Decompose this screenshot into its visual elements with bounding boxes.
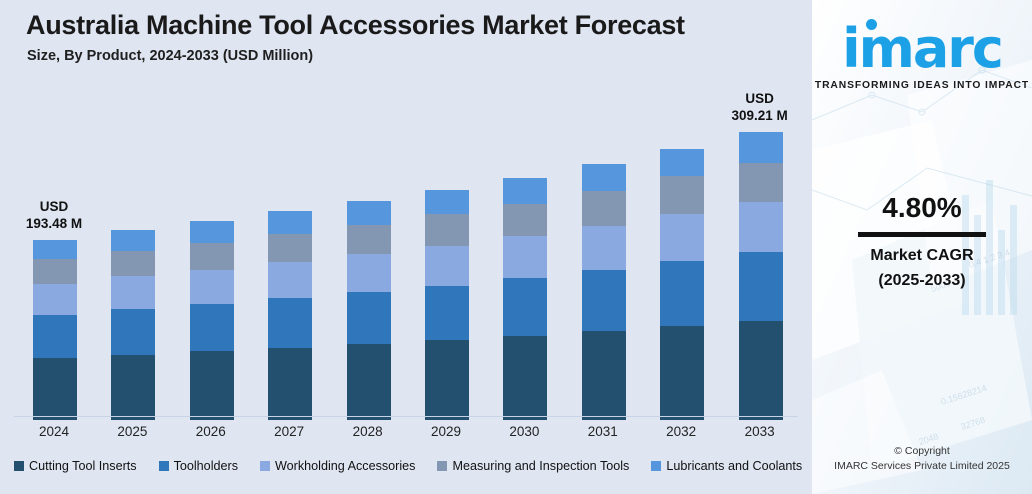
x-axis-line (14, 416, 798, 417)
stacked-bar-2029[interactable] (425, 190, 469, 420)
bar-segment-2031-measuring-and-inspection-tools (582, 191, 626, 226)
bar-segment-2025-measuring-and-inspection-tools (111, 251, 155, 277)
x-tick-2028: 2028 (328, 424, 408, 439)
page-subtitle: Size, By Product, 2024-2033 (USD Million… (27, 48, 313, 64)
bar-segment-2033-measuring-and-inspection-tools (739, 163, 783, 202)
bar-segment-2030-lubricants-and-coolants (503, 178, 547, 204)
logo-tagline: TRANSFORMING IDEAS INTO IMPACT (812, 80, 1032, 91)
cagr-label-line1: Market CAGR (812, 243, 1032, 268)
bar-segment-2024-measuring-and-inspection-tools (33, 259, 77, 283)
bar-segment-2029-lubricants-and-coolants (425, 190, 469, 215)
stacked-bar-2028[interactable] (347, 201, 391, 420)
copyright-notice: © Copyright IMARC Services Private Limit… (812, 444, 1032, 474)
chart-panel: Australia Machine Tool Accessories Marke… (0, 0, 812, 494)
bar-group-2030 (484, 74, 564, 420)
legend-item-lubricants-and-coolants[interactable]: Lubricants and Coolants (651, 459, 802, 473)
x-tick-2029: 2029 (406, 424, 486, 439)
stacked-bar-2026[interactable] (190, 221, 234, 420)
legend-swatch-icon (14, 461, 24, 471)
bar-segment-2028-workholding-accessories (347, 254, 391, 292)
stacked-bar-2024[interactable] (33, 240, 77, 420)
bar-group-2033: USD309.21 M (720, 74, 800, 420)
bar-segment-2030-measuring-and-inspection-tools (503, 204, 547, 237)
bar-segment-2031-cutting-tool-inserts (582, 331, 626, 420)
bar-segment-2025-cutting-tool-inserts (111, 355, 155, 420)
bar-segment-2027-workholding-accessories (268, 262, 312, 298)
bar-segment-2025-lubricants-and-coolants (111, 230, 155, 250)
legend-swatch-icon (651, 461, 661, 471)
stacked-bar-2033[interactable] (739, 132, 783, 420)
stacked-bar-2031[interactable] (582, 164, 626, 420)
bar-segment-2030-cutting-tool-inserts (503, 336, 547, 420)
legend-swatch-icon (159, 461, 169, 471)
chart-screenshot: Australia Machine Tool Accessories Marke… (0, 0, 1032, 494)
bar-segment-2026-workholding-accessories (190, 270, 234, 304)
cagr-value: 4.80% (812, 192, 1032, 224)
x-tick-2025: 2025 (92, 424, 172, 439)
bar-segment-2027-measuring-and-inspection-tools (268, 234, 312, 262)
plot-area: USD193.48 MUSD309.21 M (0, 70, 812, 420)
bar-segment-2031-lubricants-and-coolants (582, 164, 626, 190)
bar-segment-2032-toolholders (660, 261, 704, 326)
bar-segment-2028-lubricants-and-coolants (347, 201, 391, 225)
bar-segment-2026-toolholders (190, 304, 234, 352)
bar-segment-2032-workholding-accessories (660, 214, 704, 262)
bar-segment-2028-toolholders (347, 292, 391, 344)
cagr-label-line2: (2025-2033) (812, 268, 1032, 293)
legend-label: Toolholders (174, 459, 238, 473)
bar-segment-2028-cutting-tool-inserts (347, 344, 391, 420)
stacked-bar-2025[interactable] (111, 230, 155, 420)
bar-group-2029 (406, 74, 486, 420)
bar-segment-2031-toolholders (582, 270, 626, 331)
stacked-bar-2032[interactable] (660, 149, 704, 420)
bar-segment-2032-cutting-tool-inserts (660, 326, 704, 420)
x-tick-2031: 2031 (563, 424, 643, 439)
bar-segment-2033-workholding-accessories (739, 202, 783, 252)
legend-label: Workholding Accessories (275, 459, 415, 473)
legend-swatch-icon (260, 461, 270, 471)
logo-dot-icon (866, 19, 877, 30)
chart-legend: Cutting Tool InsertsToolholdersWorkholdi… (0, 455, 812, 477)
x-tick-2024: 2024 (14, 424, 94, 439)
bar-segment-2032-measuring-and-inspection-tools (660, 176, 704, 213)
copyright-line2: IMARC Services Private Limited 2025 (812, 459, 1032, 474)
x-tick-2033: 2033 (720, 424, 800, 439)
x-tick-2032: 2032 (641, 424, 721, 439)
bar-segment-2033-toolholders (739, 252, 783, 321)
bar-segment-2033-lubricants-and-coolants (739, 132, 783, 163)
bar-segment-2027-toolholders (268, 298, 312, 348)
bar-segment-2032-lubricants-and-coolants (660, 149, 704, 177)
legend-label: Cutting Tool Inserts (29, 459, 137, 473)
bar-segment-2024-lubricants-and-coolants (33, 240, 77, 259)
bar-segment-2024-toolholders (33, 315, 77, 358)
bar-segment-2030-workholding-accessories (503, 236, 547, 278)
x-tick-2027: 2027 (249, 424, 329, 439)
legend-swatch-icon (437, 461, 447, 471)
x-tick-2030: 2030 (484, 424, 564, 439)
legend-label: Measuring and Inspection Tools (452, 459, 629, 473)
last-bar-value-label: USD309.21 M (702, 90, 818, 124)
bar-segment-2025-workholding-accessories (111, 276, 155, 309)
bar-segment-2030-toolholders (503, 278, 547, 336)
bar-segment-2026-measuring-and-inspection-tools (190, 243, 234, 270)
bar-segment-2027-lubricants-and-coolants (268, 211, 312, 234)
bar-segment-2026-lubricants-and-coolants (190, 221, 234, 243)
bar-segment-2024-workholding-accessories (33, 284, 77, 315)
bar-segment-2025-toolholders (111, 309, 155, 354)
page-title: Australia Machine Tool Accessories Marke… (26, 10, 685, 41)
bar-group-2025 (92, 74, 172, 420)
bar-segment-2027-cutting-tool-inserts (268, 348, 312, 420)
stacked-bar-2027[interactable] (268, 211, 312, 420)
legend-label: Lubricants and Coolants (666, 459, 802, 473)
bar-segment-2029-cutting-tool-inserts (425, 340, 469, 420)
legend-item-workholding-accessories[interactable]: Workholding Accessories (260, 459, 415, 473)
bar-group-2026 (171, 74, 251, 420)
bar-group-2027 (249, 74, 329, 420)
value-label-line: 309.21 M (702, 107, 818, 124)
bar-segment-2028-measuring-and-inspection-tools (347, 225, 391, 255)
stacked-bar-2030[interactable] (503, 178, 547, 420)
bar-segment-2024-cutting-tool-inserts (33, 358, 77, 420)
bar-segment-2029-toolholders (425, 286, 469, 341)
imarc-logo: imarc TRANSFORMING IDEAS INTO IMPACT (812, 22, 1032, 91)
bar-group-2024: USD193.48 M (14, 74, 94, 420)
bar-segment-2033-cutting-tool-inserts (739, 321, 783, 420)
x-tick-2026: 2026 (171, 424, 251, 439)
cagr-label: Market CAGR (2025-2033) (812, 243, 1032, 293)
bar-group-2028 (328, 74, 408, 420)
bar-segment-2031-workholding-accessories (582, 226, 626, 271)
copyright-line1: © Copyright (812, 444, 1032, 459)
legend-item-toolholders[interactable]: Toolholders (159, 459, 238, 473)
cagr-divider (858, 232, 986, 237)
bar-segment-2029-measuring-and-inspection-tools (425, 214, 469, 245)
bar-group-2032 (641, 74, 721, 420)
brand-panel: 0.15628214 32768 2048 0.4 1 2 3 4 5000 i… (812, 0, 1032, 494)
bar-segment-2026-cutting-tool-inserts (190, 351, 234, 420)
value-label-line: USD (702, 90, 818, 107)
bar-segment-2029-workholding-accessories (425, 246, 469, 286)
legend-item-cutting-tool-inserts[interactable]: Cutting Tool Inserts (14, 459, 137, 473)
legend-item-measuring-and-inspection-tools[interactable]: Measuring and Inspection Tools (437, 459, 629, 473)
x-axis-labels: 2024202520262027202820292030203120322033 (0, 424, 812, 450)
bar-group-2031 (563, 74, 643, 420)
